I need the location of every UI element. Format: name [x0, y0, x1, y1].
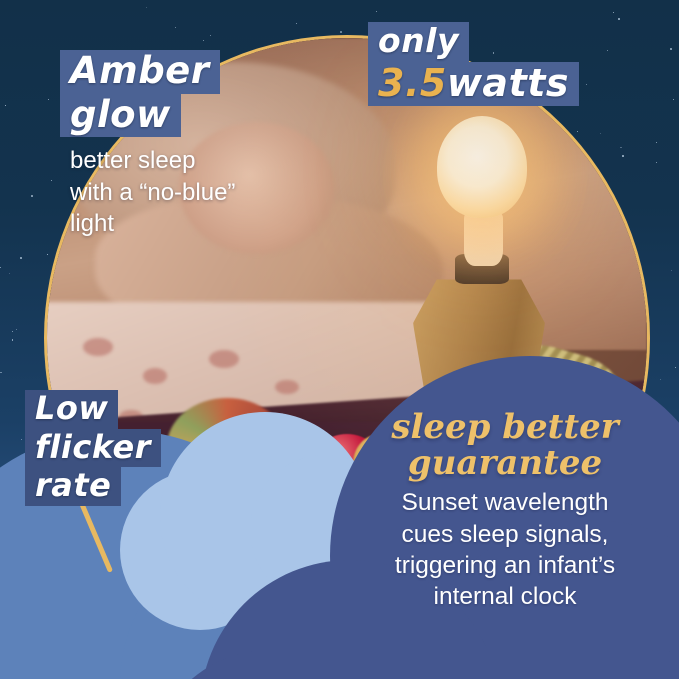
star-speck [210, 35, 211, 36]
star-speck [673, 99, 674, 100]
star-speck [0, 372, 2, 374]
amber-glow-body-line3: light [70, 208, 235, 239]
star-speck [340, 31, 342, 33]
flicker-heading-line1: Low [25, 390, 161, 429]
star-speck [656, 142, 657, 143]
star-speck [16, 329, 17, 330]
amber-glow-heading-line1: Amber [60, 50, 235, 94]
guarantee-body-line4: internal clock [355, 581, 655, 612]
star-speck [656, 162, 657, 163]
watts-only-text: only [368, 22, 469, 62]
star-speck [660, 379, 661, 380]
flicker-heading-text2: flicker [25, 429, 161, 468]
watts-heading-line2: 3.5watts [368, 62, 579, 107]
star-speck [376, 11, 377, 12]
watts-heading-line1: only [368, 22, 579, 62]
amber-glow-heading-line2: glow [60, 94, 235, 138]
amber-glow-heading-text2: glow [60, 94, 181, 138]
guarantee-title: sleep better guarantee [355, 410, 655, 481]
star-speck [146, 7, 147, 8]
amber-glow-body-line2: with a “no-blue” [70, 177, 235, 208]
watts-number: 3.5 [378, 61, 447, 105]
flicker-heading-text3: rate [25, 467, 121, 506]
guarantee-body-line3: triggering an infant’s [355, 550, 655, 581]
star-speck [21, 439, 22, 440]
star-speck [12, 331, 13, 332]
guarantee-title-line2: guarantee [355, 446, 655, 482]
amber-glow-body: better sleep with a “no-blue” light [60, 145, 235, 239]
guarantee-title-line1: sleep better [355, 410, 655, 446]
amber-glow-body-line1: better sleep [70, 145, 235, 176]
watts-unit: watts [447, 61, 569, 105]
star-speck [20, 257, 22, 259]
amber-glow-heading-text1: Amber [60, 50, 220, 94]
feature-low-flicker: Low flicker rate [25, 390, 161, 506]
star-speck [671, 270, 672, 271]
watts-value-unit: 3.5watts [368, 62, 579, 107]
flicker-heading-line3: rate [25, 467, 161, 506]
star-speck [0, 267, 1, 268]
flicker-heading-text1: Low [25, 390, 118, 429]
feature-sleep-guarantee: sleep better guarantee Sunset wavelength… [355, 410, 655, 613]
star-speck [9, 273, 10, 274]
flicker-heading-line2: flicker [25, 429, 161, 468]
guarantee-body-line1: Sunset wavelength [355, 487, 655, 518]
star-speck [675, 367, 676, 368]
star-speck [613, 12, 614, 13]
guarantee-body: Sunset wavelength cues sleep signals, tr… [355, 487, 655, 612]
feature-amber-glow: Amber glow better sleep with a “no-blue”… [60, 50, 235, 239]
star-speck [670, 48, 672, 50]
feature-wattage: only 3.5watts [368, 22, 579, 106]
product-infographic: Amber glow better sleep with a “no-blue”… [0, 0, 679, 679]
star-speck [175, 27, 176, 28]
star-speck [12, 339, 14, 341]
star-speck [31, 195, 33, 197]
star-speck [618, 18, 620, 20]
star-speck [5, 105, 6, 106]
star-speck [296, 23, 297, 24]
guarantee-body-line2: cues sleep signals, [355, 519, 655, 550]
